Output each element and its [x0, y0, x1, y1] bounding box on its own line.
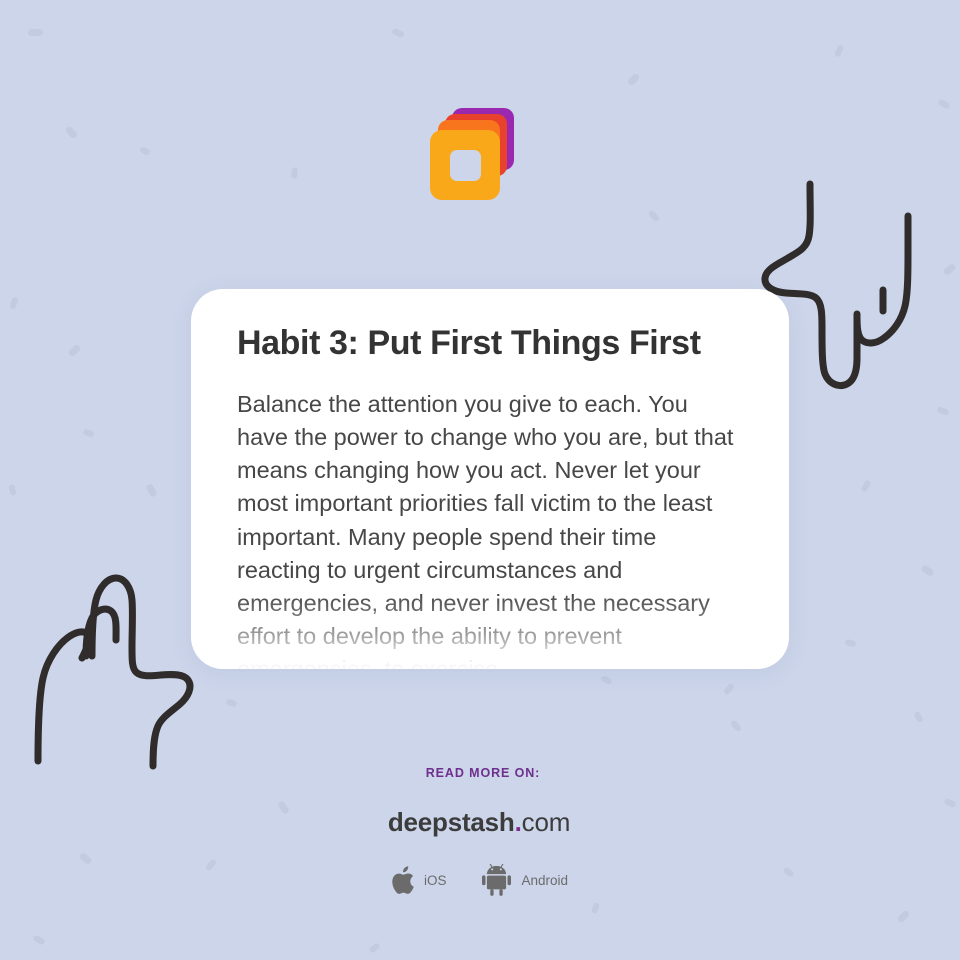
background-speck — [65, 125, 79, 139]
background-speck — [834, 44, 845, 57]
logo-center-cutout — [450, 150, 481, 181]
background-speck — [648, 210, 661, 223]
idea-card-content: Habit 3: Put First Things First Balance … — [191, 289, 789, 669]
pointing-hand-up-icon — [18, 556, 218, 791]
brand-name: deepstash — [388, 807, 515, 837]
background-speck — [723, 682, 735, 695]
footer: READ MORE ON: deepstash.com iOS — [0, 766, 960, 896]
background-speck — [920, 564, 935, 577]
background-speck — [942, 263, 956, 277]
apple-icon — [389, 865, 415, 896]
background-speck — [391, 28, 404, 39]
read-more-label: READ MORE ON: — [6, 766, 960, 780]
ios-store-link[interactable]: iOS — [389, 865, 447, 896]
background-speck — [730, 719, 742, 732]
ios-label: iOS — [424, 873, 447, 888]
android-icon — [482, 864, 512, 896]
background-speck — [856, 333, 868, 345]
background-speck — [9, 296, 19, 309]
background-speck — [896, 909, 910, 923]
android-label: Android — [521, 873, 568, 888]
background-speck — [32, 934, 45, 945]
background-speck — [67, 343, 81, 357]
background-speck — [225, 698, 237, 707]
background-speck — [937, 98, 950, 110]
brand-wordmark[interactable]: deepstash.com — [0, 807, 960, 838]
background-speck — [139, 146, 151, 156]
card-body-text: Balance the attention you give to each. … — [237, 388, 743, 669]
card-title: Habit 3: Put First Things First — [237, 323, 743, 364]
background-speck — [28, 29, 43, 36]
background-speck — [145, 483, 158, 498]
deepstash-logo — [430, 108, 514, 194]
background-speck — [860, 479, 871, 492]
background-speck — [913, 711, 924, 724]
app-store-links: iOS Android — [0, 864, 960, 896]
brand-dot: . — [515, 807, 522, 837]
background-speck — [936, 406, 949, 416]
background-speck — [844, 639, 856, 648]
android-store-link[interactable]: Android — [482, 864, 568, 896]
brand-tld: com — [522, 807, 571, 837]
background-speck — [626, 72, 640, 86]
background-speck — [8, 484, 17, 496]
background-speck — [291, 167, 298, 178]
background-speck — [600, 675, 613, 685]
background-speck — [591, 902, 600, 914]
background-speck — [368, 942, 380, 954]
background-speck — [82, 428, 94, 437]
idea-card: Habit 3: Put First Things First Balance … — [191, 289, 789, 669]
